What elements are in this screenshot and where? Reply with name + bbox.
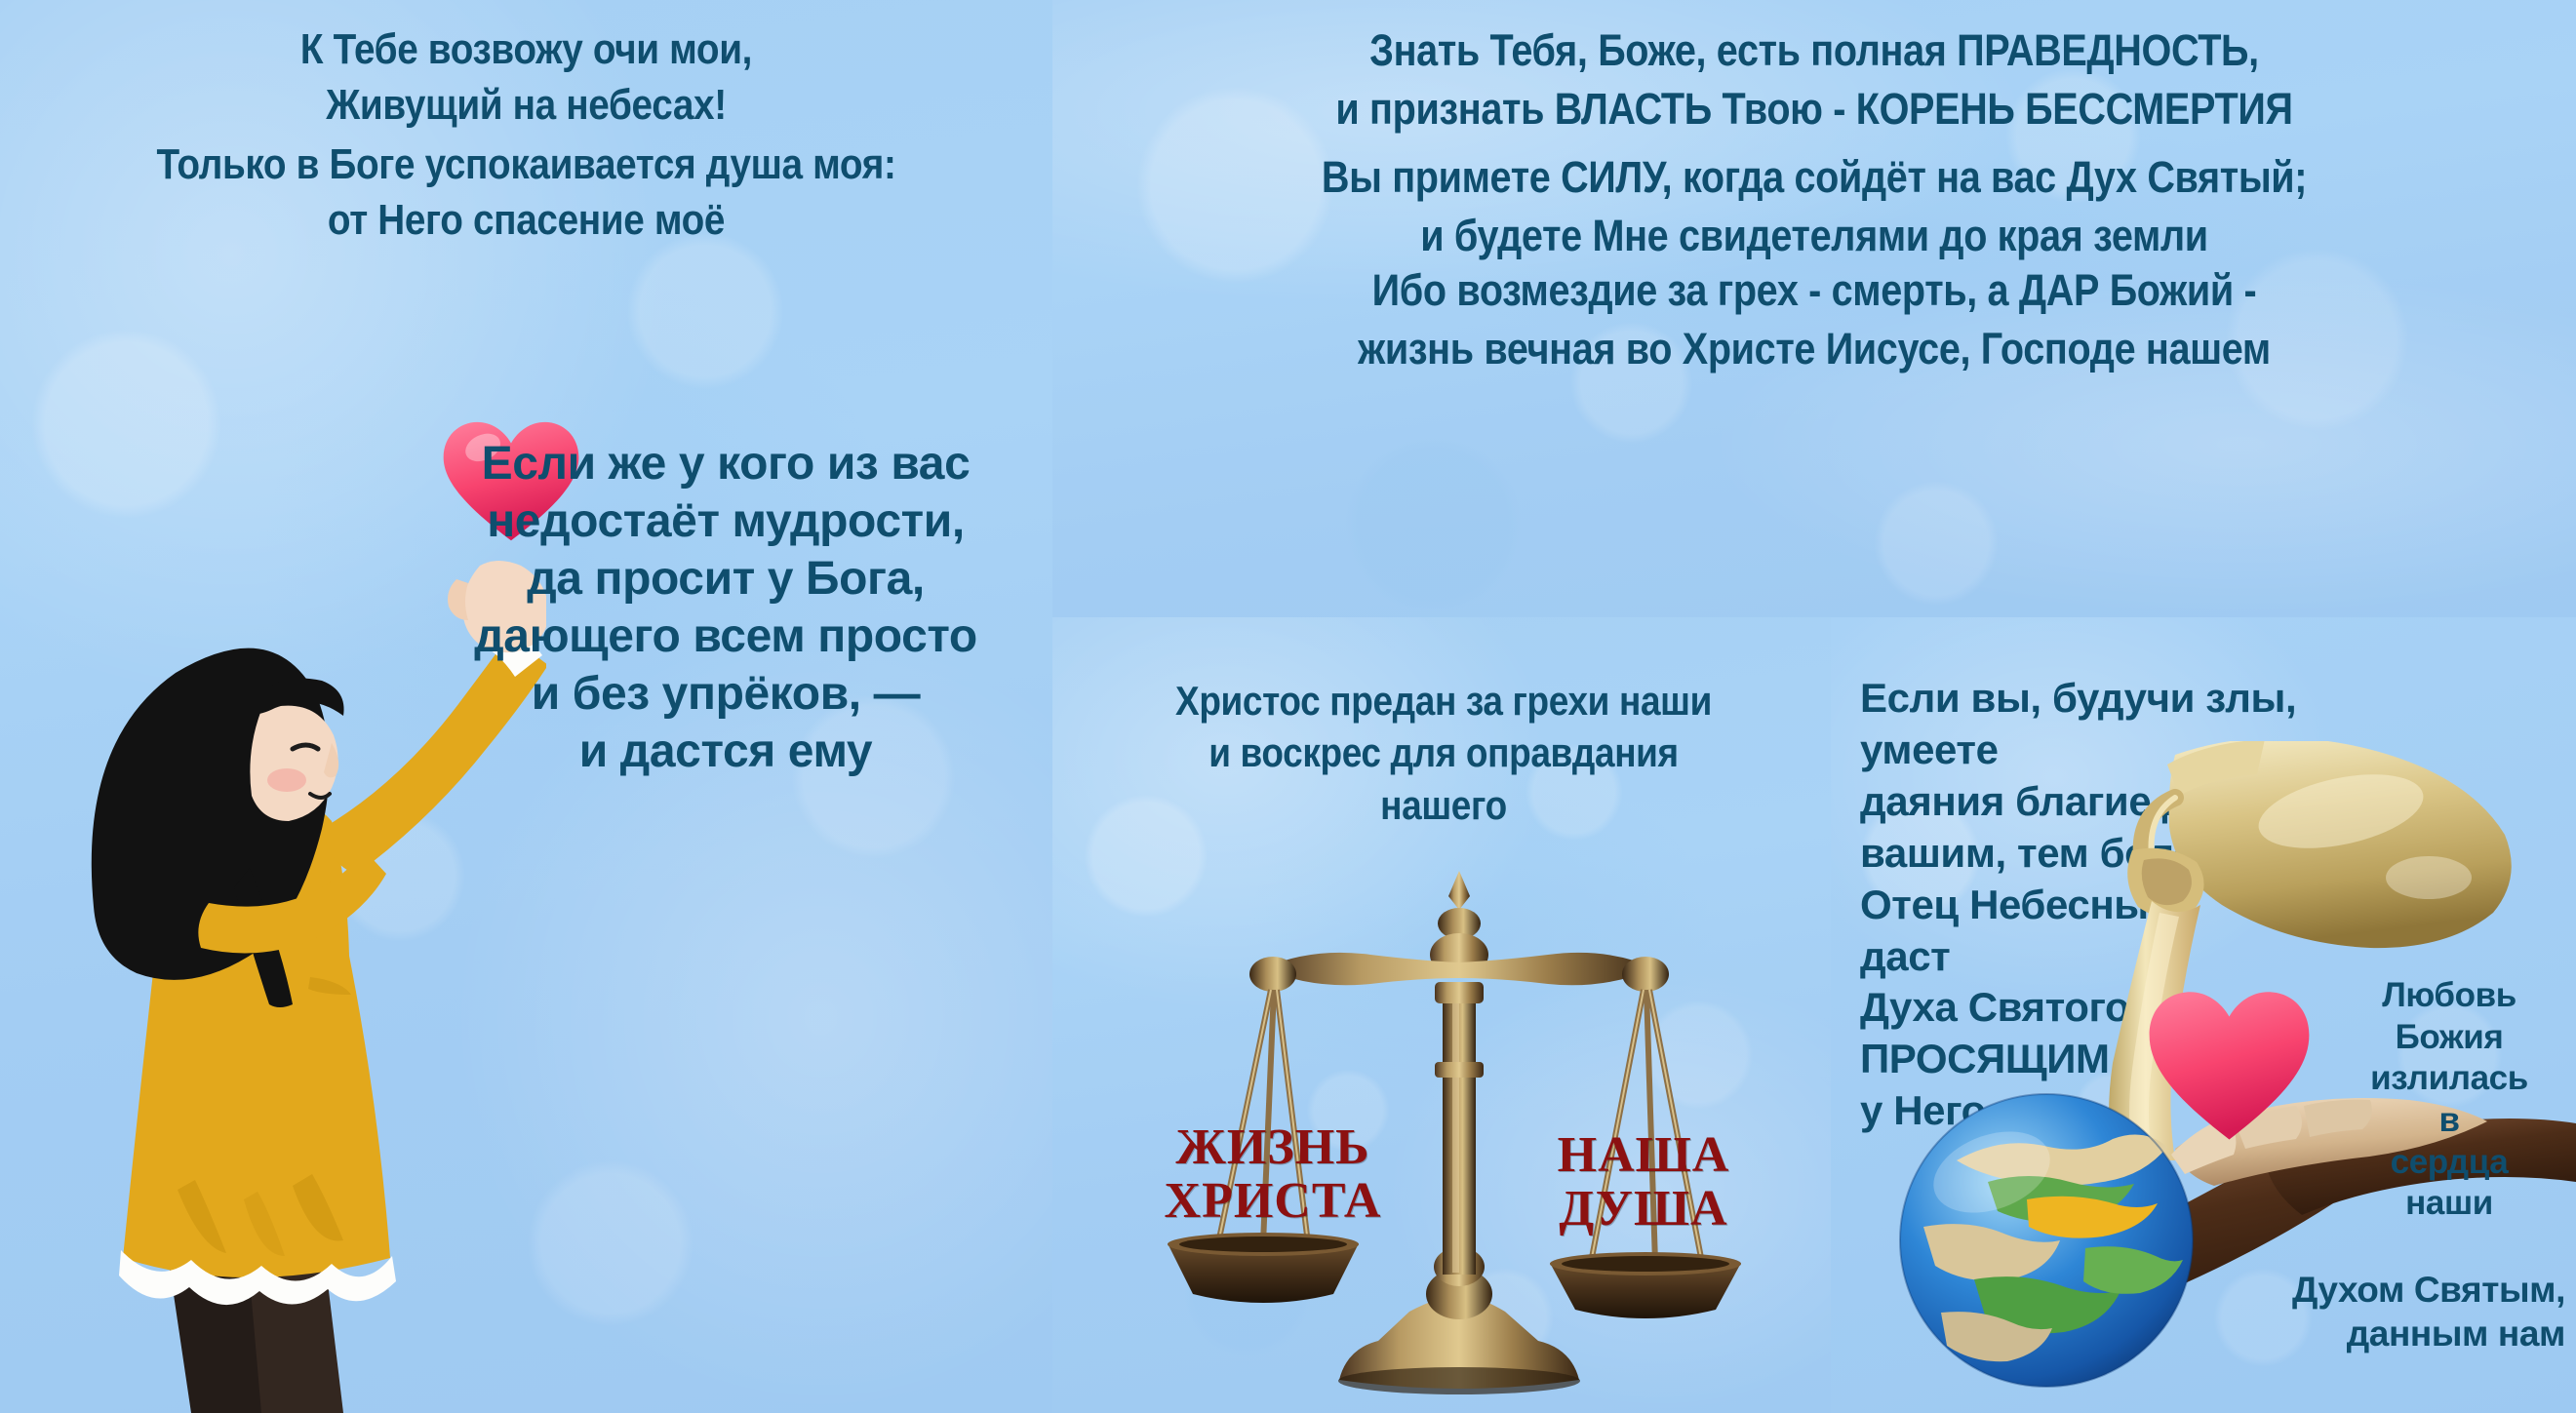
quote-left-3: Если же у кого из вас недостаёт мудрости… [423,435,1028,780]
quote-right-3: Духом Святым, данным нам [2097,1268,2565,1355]
quote-middle-1: Христос предан за грехи наши и воскрес д… [1109,675,1778,831]
quote-left-1: К Тебе возвожу очи мои, Живущий на небес… [63,21,990,133]
quote-right-2: Любовь Божия излилась в сердца наши [2327,975,2571,1225]
quote-topright-2: Вы примете СИЛУ, когда сойдёт на вас Дух… [1144,148,2485,265]
poster-root: К Тебе возвожу очи мои, Живущий на небес… [0,0,2576,1413]
scale-label-right: НАША ДУША [1531,1129,1756,1236]
quote-left-2: Только в Боге успокаивается душа моя: от… [63,137,990,248]
scale-label-left: ЖИЗНЬ ХРИСТА [1156,1121,1390,1228]
quote-topright-3: Ибо возмездие за грех - смерть, а ДАР Бо… [1144,261,2485,378]
quote-topright-1: Знать Тебя, Боже, есть полная ПРАВЕДНОСТ… [1144,21,2485,138]
